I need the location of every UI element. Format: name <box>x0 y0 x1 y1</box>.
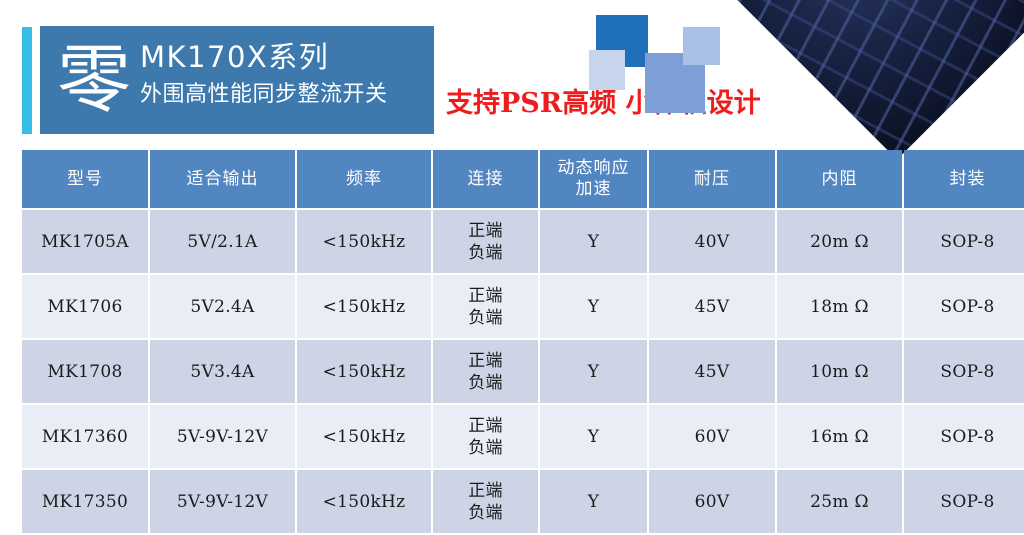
column-header-dynamic-response-line1: 动态响应 <box>558 158 630 178</box>
cell-connection-line2: 负端 <box>433 437 538 459</box>
brand-logo-glyph: 零 <box>56 32 132 128</box>
column-header-frequency: 频率 <box>297 150 431 208</box>
cell-resistance: 16m Ω <box>777 405 902 468</box>
cell-dynamic-response: Y <box>540 275 647 338</box>
cell-resistance: 20m Ω <box>777 210 902 273</box>
cell-model: MK1705A <box>22 210 148 273</box>
column-header-connection: 连接 <box>433 150 538 208</box>
cell-connection-line1: 正端 <box>433 220 538 242</box>
banner-title: MK170X系列 <box>140 36 424 78</box>
cell-resistance: 25m Ω <box>777 470 902 533</box>
cell-resistance: 18m Ω <box>777 275 902 338</box>
cell-package: SOP-8 <box>904 405 1024 468</box>
cell-output: 5V2.4A <box>150 275 295 338</box>
cell-package: SOP-8 <box>904 340 1024 403</box>
column-header-resistance: 内阻 <box>777 150 902 208</box>
cell-model: MK17360 <box>22 405 148 468</box>
cell-voltage: 60V <box>649 470 775 533</box>
cell-dynamic-response: Y <box>540 405 647 468</box>
product-spec-table: 型号 适合输出 频率 连接 动态响应 加速 耐压 内阻 封装 MK1705A 5… <box>20 148 1024 535</box>
table-row: MK17360 5V-9V-12V <150kHz 正端 负端 Y 60V 16… <box>22 405 1024 468</box>
cell-connection-line2: 负端 <box>433 242 538 264</box>
table-row: MK1708 5V3.4A <150kHz 正端 负端 Y 45V 10m Ω … <box>22 340 1024 403</box>
cell-output: 5V-9V-12V <box>150 405 295 468</box>
decorative-square-light <box>683 27 720 65</box>
cell-connection-line1: 正端 <box>433 350 538 372</box>
cell-frequency: <150kHz <box>297 340 431 403</box>
column-header-dynamic-response-line2: 加速 <box>576 179 612 199</box>
cell-resistance: 10m Ω <box>777 340 902 403</box>
table-body: MK1705A 5V/2.1A <150kHz 正端 负端 Y 40V 20m … <box>22 210 1024 533</box>
cell-model: MK1708 <box>22 340 148 403</box>
cell-connection: 正端 负端 <box>433 405 538 468</box>
cell-dynamic-response: Y <box>540 340 647 403</box>
cell-model: MK17350 <box>22 470 148 533</box>
cell-voltage: 60V <box>649 405 775 468</box>
cell-dynamic-response: Y <box>540 210 647 273</box>
accent-bar <box>22 27 32 134</box>
cell-connection-line2: 负端 <box>433 502 538 524</box>
cell-frequency: <150kHz <box>297 470 431 533</box>
table-row: MK1706 5V2.4A <150kHz 正端 负端 Y 45V 18m Ω … <box>22 275 1024 338</box>
cell-connection: 正端 负端 <box>433 470 538 533</box>
cell-connection: 正端 负端 <box>433 275 538 338</box>
table-header-row: 型号 适合输出 频率 连接 动态响应 加速 耐压 内阻 封装 <box>22 150 1024 208</box>
banner-text-group: MK170X系列 外围高性能同步整流开关 <box>140 36 424 112</box>
decorative-square-pale <box>589 50 625 90</box>
column-header-voltage: 耐压 <box>649 150 775 208</box>
cell-connection-line1: 正端 <box>433 480 538 502</box>
cell-connection: 正端 负端 <box>433 210 538 273</box>
column-header-package: 封装 <box>904 150 1024 208</box>
page-header: 零 MK170X系列 外围高性能同步整流开关 支持PSR高频 小体积设计 <box>0 0 1024 145</box>
cell-package: SOP-8 <box>904 210 1024 273</box>
cell-voltage: 40V <box>649 210 775 273</box>
cell-connection: 正端 负端 <box>433 340 538 403</box>
cell-frequency: <150kHz <box>297 275 431 338</box>
column-header-model: 型号 <box>22 150 148 208</box>
cell-package: SOP-8 <box>904 275 1024 338</box>
cell-connection-line1: 正端 <box>433 415 538 437</box>
column-header-output: 适合输出 <box>150 150 295 208</box>
cell-model: MK1706 <box>22 275 148 338</box>
cell-frequency: <150kHz <box>297 210 431 273</box>
column-header-dynamic-response: 动态响应 加速 <box>540 150 647 208</box>
architecture-diamond-photo <box>734 0 1024 160</box>
cell-frequency: <150kHz <box>297 405 431 468</box>
tagline: 支持PSR高频 小体积设计 <box>446 88 761 120</box>
cell-connection-line2: 负端 <box>433 307 538 329</box>
cell-connection-line2: 负端 <box>433 372 538 394</box>
banner-subtitle: 外围高性能同步整流开关 <box>140 78 424 112</box>
table-header: 型号 适合输出 频率 连接 动态响应 加速 耐压 内阻 封装 <box>22 150 1024 208</box>
cell-connection-line1: 正端 <box>433 285 538 307</box>
product-banner: 零 MK170X系列 外围高性能同步整流开关 <box>40 26 434 134</box>
table-row: MK1705A 5V/2.1A <150kHz 正端 负端 Y 40V 20m … <box>22 210 1024 273</box>
cell-voltage: 45V <box>649 340 775 403</box>
architecture-photo-texture <box>737 0 1024 157</box>
cell-output: 5V3.4A <box>150 340 295 403</box>
cell-output: 5V/2.1A <box>150 210 295 273</box>
table-row: MK17350 5V-9V-12V <150kHz 正端 负端 Y 60V 25… <box>22 470 1024 533</box>
cell-dynamic-response: Y <box>540 470 647 533</box>
cell-package: SOP-8 <box>904 470 1024 533</box>
cell-output: 5V-9V-12V <box>150 470 295 533</box>
cell-voltage: 45V <box>649 275 775 338</box>
